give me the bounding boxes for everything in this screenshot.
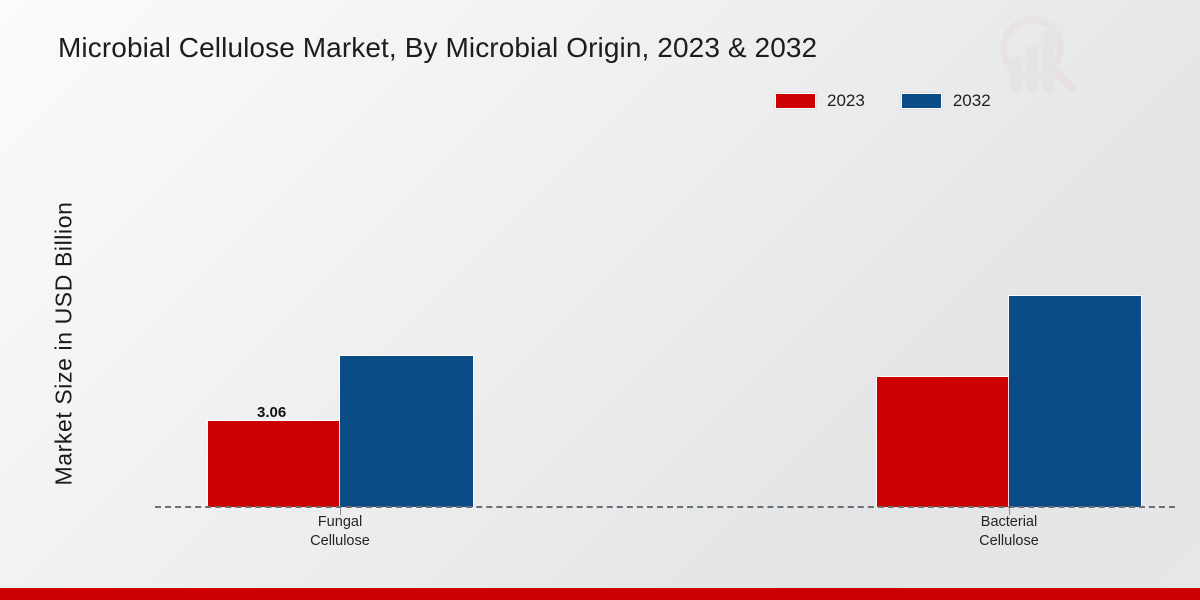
x-axis-baseline: [155, 506, 1175, 508]
bar-fungal-2023[interactable]: [208, 421, 340, 507]
bar-value-label-fungal-2023: 3.06: [257, 404, 286, 421]
x-axis-label-fungal-line2: Cellulose: [230, 532, 450, 551]
bar-bacterial-2032[interactable]: [1009, 296, 1141, 507]
x-axis-label-fungal-line1: Fungal: [230, 513, 450, 532]
x-axis-label-fungal: Fungal Cellulose: [230, 513, 450, 551]
plot-area: 3.06 Fungal Cellulose Bacterial Cellulos…: [0, 0, 1200, 600]
x-axis-label-bacterial-line2: Cellulose: [899, 532, 1119, 551]
bar-fungal-2032[interactable]: [340, 356, 473, 507]
x-axis-label-bacterial: Bacterial Cellulose: [899, 513, 1119, 551]
x-axis-label-bacterial-line1: Bacterial: [899, 513, 1119, 532]
chart-canvas: Microbial Cellulose Market, By Microbial…: [0, 0, 1200, 600]
footer-accent-band: [0, 588, 1200, 600]
bar-bacterial-2023[interactable]: [877, 377, 1009, 507]
